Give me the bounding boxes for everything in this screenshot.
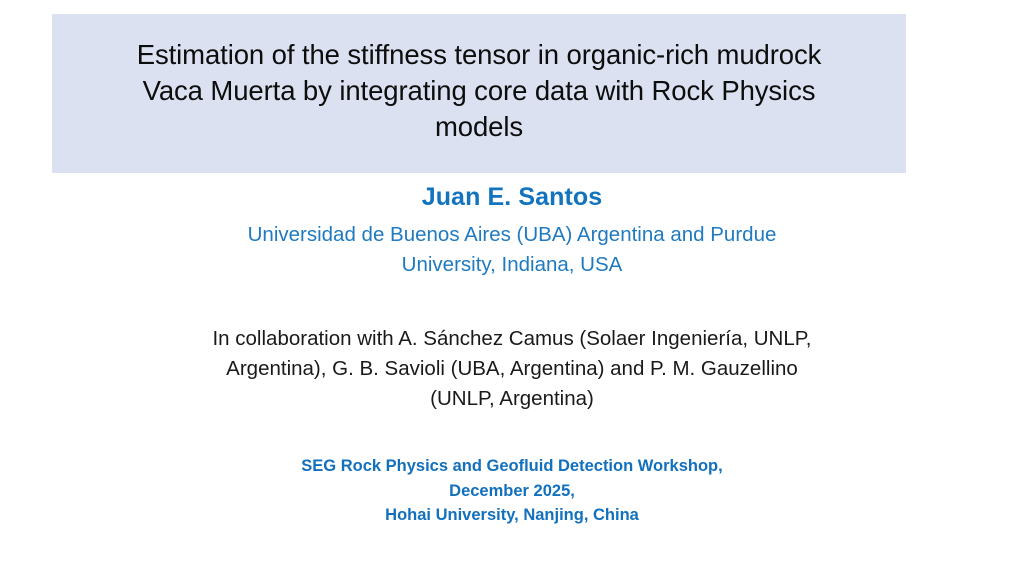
author-affiliation: Universidad de Buenos Aires (UBA) Argent… — [0, 220, 1024, 280]
conference-details: SEG Rock Physics and Geofluid Detection … — [0, 454, 1024, 528]
slide-title: Estimation of the stiffness tensor in or… — [62, 37, 896, 145]
presentation-slide: Estimation of the stiffness tensor in or… — [0, 0, 1024, 576]
title-line-3: models — [62, 109, 896, 145]
spacer-after-affiliation — [0, 280, 1024, 324]
conference-line-1: SEG Rock Physics and Geofluid Detection … — [0, 454, 1024, 479]
title-banner: Estimation of the stiffness tensor in or… — [52, 14, 906, 173]
author-name: Juan E. Santos — [0, 180, 1024, 214]
affiliation-line-2: University, Indiana, USA — [0, 250, 1024, 280]
conference-line-3: Hohai University, Nanjing, China — [0, 503, 1024, 528]
collaboration-line-1: In collaboration with A. Sánchez Camus (… — [0, 324, 1024, 354]
collaboration-line-2: Argentina), G. B. Savioli (UBA, Argentin… — [0, 354, 1024, 384]
collaboration-line-3: (UNLP, Argentina) — [0, 384, 1024, 414]
title-line-1: Estimation of the stiffness tensor in or… — [62, 37, 896, 73]
collaboration-statement: In collaboration with A. Sánchez Camus (… — [0, 324, 1024, 414]
conference-line-2: December 2025, — [0, 479, 1024, 504]
affiliation-line-1: Universidad de Buenos Aires (UBA) Argent… — [0, 220, 1024, 250]
title-line-2: Vaca Muerta by integrating core data wit… — [62, 73, 896, 109]
slide-body: Juan E. Santos Universidad de Buenos Air… — [0, 180, 1024, 528]
spacer-after-collaboration — [0, 414, 1024, 454]
